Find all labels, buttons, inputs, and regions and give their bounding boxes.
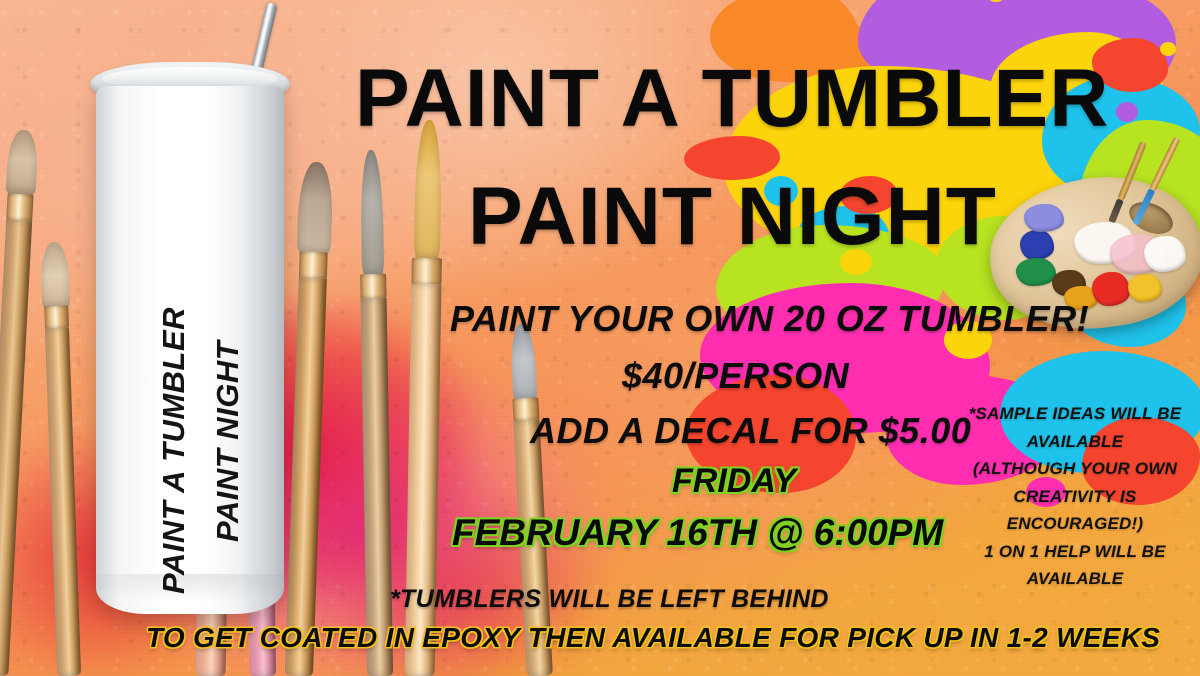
decal-line: ADD A DECAL FOR $5.00 [530,410,971,452]
side-note-line: *SAMPLE IDEAS WILL BE [952,400,1198,428]
paint-dab-green [1016,258,1056,286]
paint-dab-yellow [1128,274,1162,302]
headline-line1: PAINT A TUMBLER [355,58,1109,140]
price-line: $40/PERSON [622,355,849,397]
side-note-line: CREATIVITY IS [952,483,1198,511]
flyer-canvas: PAINT A TUMBLER PAINT NIGHT [0,0,1200,676]
paint-dab-blue [1020,230,1054,260]
brush-ferrule [411,258,441,285]
side-note-line: AVAILABLE [952,565,1198,593]
tumbler-mockup: PAINT A TUMBLER PAINT NIGHT [90,62,290,624]
side-note-line: ENCOURAGED!) [952,510,1198,538]
offer-line: PAINT YOUR OWN 20 OZ TUMBLER! [450,298,1089,340]
footnote-line2: TO GET COATED IN EPOXY THEN AVAILABLE FO… [146,622,1160,654]
tumbler-label-line1: PAINT A TUMBLER [158,307,189,594]
brush-ferrule [299,252,328,279]
event-date-time: FEBRUARY 16TH @ 6:00PM [452,512,943,554]
brush-ferrule [360,274,386,298]
side-note-line: 1 ON 1 HELP WILL BE [952,538,1198,566]
brush-ferrule [6,193,33,220]
splatter-dot-yellow [1160,42,1176,56]
paint-dab-white [1144,236,1186,272]
paint-dab-red [1092,272,1130,306]
headline-line2: PAINT NIGHT [468,176,997,258]
side-note-line: AVAILABLE [952,428,1198,456]
paint-dab-periwinkle [1024,204,1064,232]
footnote-line1: *TUMBLERS WILL BE LEFT BEHIND [390,585,829,614]
side-note-block: *SAMPLE IDEAS WILL BE AVAILABLE (ALTHOUG… [952,400,1198,593]
brush-ferrule [44,306,69,329]
event-day: FRIDAY [672,462,796,501]
tumbler-label-line2: PAINT NIGHT [212,341,243,542]
tumbler-body: PAINT A TUMBLER PAINT NIGHT [96,86,284,614]
side-note-line: (ALTHOUGH YOUR OWN [952,455,1198,483]
splatter-dot-purple [1116,102,1138,122]
